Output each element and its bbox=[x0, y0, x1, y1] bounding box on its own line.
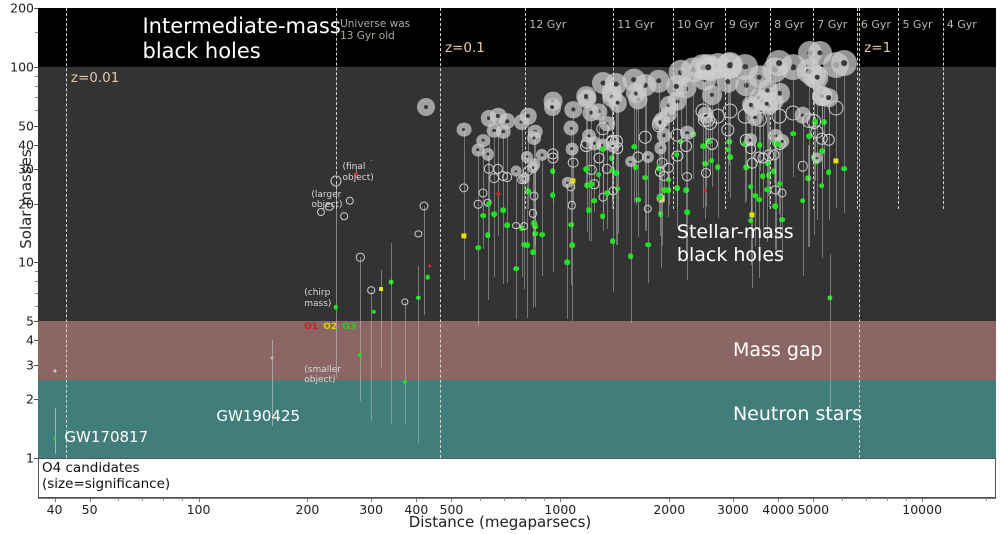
event-dot bbox=[565, 260, 571, 266]
mass-uncertainty-bar bbox=[589, 136, 590, 241]
mass-uncertainty-bar bbox=[533, 167, 534, 308]
event-dot bbox=[600, 146, 606, 152]
mass-uncertainty-bar bbox=[631, 162, 632, 323]
final-object-ring bbox=[544, 98, 562, 116]
redshift-label: z=1 bbox=[864, 40, 891, 56]
reference-line bbox=[943, 8, 944, 209]
event-dot bbox=[657, 194, 663, 200]
final-object-ring bbox=[564, 121, 579, 136]
mass-uncertainty-bar bbox=[836, 65, 837, 207]
reference-line bbox=[770, 8, 771, 209]
mass-uncertainty-bar bbox=[542, 155, 543, 276]
event-dot bbox=[684, 209, 690, 215]
lookback-time-label: 7 Gyr bbox=[817, 18, 847, 31]
event-dot bbox=[819, 183, 825, 189]
callout-final-object: (final object) bbox=[343, 162, 374, 183]
event-dot bbox=[748, 184, 754, 190]
final-object-ring bbox=[808, 41, 832, 65]
component-object-ring bbox=[680, 140, 692, 152]
component-object-ring bbox=[745, 143, 757, 155]
event-dot bbox=[752, 193, 758, 199]
event-dot bbox=[645, 242, 651, 248]
mass-uncertainty-bar bbox=[424, 206, 425, 315]
final-object-ring bbox=[642, 151, 654, 163]
x-minor-tick bbox=[887, 498, 888, 501]
callout-chirp-mass: (chirp mass) bbox=[304, 288, 331, 309]
lookback-time-label: 8 Gyr bbox=[774, 18, 804, 31]
event-dot bbox=[661, 188, 667, 194]
event-dot bbox=[764, 187, 770, 193]
lookback-time-label: 5 Gyr bbox=[902, 18, 932, 31]
x-minor-tick bbox=[906, 498, 907, 501]
lookback-time-label: 6 Gyr bbox=[861, 18, 891, 31]
mass-uncertainty-bar bbox=[808, 145, 809, 247]
reference-line bbox=[66, 8, 67, 458]
reference-line bbox=[898, 8, 899, 209]
mass-uncertainty-bar bbox=[498, 116, 499, 236]
mass-uncertainty-bar bbox=[815, 122, 816, 181]
component-object-ring bbox=[479, 189, 488, 198]
o4-label-line2: (size=significance) bbox=[42, 476, 170, 492]
mass-uncertainty-bar bbox=[507, 121, 508, 283]
final-object-ring bbox=[490, 108, 507, 125]
mass-uncertainty-bar bbox=[793, 67, 794, 177]
o4-label-line1: O4 candidates bbox=[42, 460, 140, 476]
mass-uncertainty-bar bbox=[391, 243, 392, 423]
lookback-time-label: 11 Gyr bbox=[617, 18, 654, 31]
mass-uncertainty-bar bbox=[763, 101, 764, 235]
label-mass-gap: Mass gap bbox=[733, 339, 823, 361]
x-minor-tick bbox=[866, 498, 867, 501]
y-tick-label: 3 bbox=[26, 357, 34, 372]
legend-o1: O1 bbox=[304, 322, 318, 332]
event-dot bbox=[631, 144, 637, 150]
x-minor-tick bbox=[480, 498, 481, 501]
event-dot bbox=[53, 370, 56, 373]
event-square bbox=[461, 233, 466, 238]
component-object-ring bbox=[341, 213, 349, 221]
label-neutron-stars: Neutron stars bbox=[733, 403, 862, 425]
event-dot bbox=[480, 213, 486, 219]
reference-line bbox=[859, 8, 860, 458]
x-tick-mark bbox=[778, 498, 779, 502]
component-object-ring bbox=[774, 138, 786, 150]
mass-uncertainty-bar bbox=[669, 105, 670, 204]
component-object-ring bbox=[512, 222, 520, 230]
mass-uncertainty-bar bbox=[677, 86, 678, 206]
mass-uncertainty-bar bbox=[553, 107, 554, 273]
mass-uncertainty-bar bbox=[618, 103, 619, 233]
final-object-ring bbox=[487, 123, 502, 138]
component-object-ring bbox=[772, 109, 787, 124]
x-tick-mark bbox=[416, 498, 417, 502]
event-dot bbox=[841, 166, 847, 172]
x-minor-tick bbox=[525, 498, 526, 501]
x-tick-mark bbox=[922, 498, 923, 502]
component-object-ring bbox=[580, 140, 592, 152]
x-tick-mark bbox=[55, 498, 56, 502]
final-object-ring bbox=[456, 122, 471, 137]
x-minor-tick bbox=[163, 498, 164, 501]
main-plot-area: z=0.01z=0.1z=1Universe was 13 Gyr old12 … bbox=[38, 8, 996, 458]
mass-uncertainty-bar bbox=[572, 149, 573, 322]
redshift-label: z=0.01 bbox=[71, 70, 119, 86]
event-dot bbox=[588, 182, 594, 188]
callout-larger-object: (larger object) bbox=[311, 190, 342, 211]
y-tick-label: 2 bbox=[26, 392, 34, 407]
reference-line bbox=[613, 8, 614, 209]
mass-uncertainty-bar bbox=[751, 105, 752, 221]
o4-panel-label: O4 candidates(size=significance) bbox=[42, 460, 170, 492]
mass-uncertainty-bar bbox=[591, 113, 592, 241]
reference-line bbox=[813, 8, 814, 209]
x-tick-mark bbox=[669, 498, 670, 502]
x-minor-tick bbox=[544, 498, 545, 501]
mass-uncertainty-bar bbox=[648, 157, 649, 283]
mass-uncertainty-bar bbox=[516, 171, 517, 319]
mass-uncertainty-bar bbox=[522, 122, 523, 277]
x-minor-tick bbox=[118, 498, 119, 501]
final-object-ring bbox=[831, 50, 857, 76]
y-tick-label: 5 bbox=[26, 314, 34, 329]
label-intermediate-mass-black-holes: Intermediate-mass black holes bbox=[142, 14, 340, 64]
final-object-ring bbox=[566, 142, 579, 155]
band-mass-gap bbox=[38, 321, 996, 380]
x-minor-tick bbox=[142, 498, 143, 501]
x-tick-mark bbox=[199, 498, 200, 502]
event-dot bbox=[610, 238, 616, 244]
redshift-label: z=0.1 bbox=[445, 40, 485, 56]
event-dot bbox=[760, 174, 766, 180]
o4-candidates-panel: O4 candidates(size=significance) bbox=[38, 458, 996, 498]
event-dot bbox=[475, 245, 481, 251]
event-dot bbox=[583, 166, 589, 172]
x-tick-mark bbox=[451, 498, 452, 502]
y-tick-label: 100 bbox=[10, 59, 34, 74]
final-object-ring bbox=[608, 94, 627, 113]
event-dot bbox=[271, 356, 274, 359]
mass-uncertainty-bar bbox=[824, 88, 825, 169]
event-dot bbox=[777, 181, 783, 187]
mass-uncertainty-bar bbox=[844, 63, 845, 213]
callout-smaller-object: (smaller object) bbox=[304, 365, 341, 386]
event-dot bbox=[674, 152, 680, 158]
mass-uncertainty-bar bbox=[527, 157, 528, 318]
mass-uncertainty-bar bbox=[830, 254, 831, 408]
event-dot bbox=[500, 208, 506, 214]
mass-uncertainty-bar bbox=[829, 98, 830, 220]
final-object-ring bbox=[417, 98, 435, 116]
component-object-ring bbox=[568, 157, 579, 168]
x-tick-mark bbox=[560, 498, 561, 502]
x-tick-mark bbox=[307, 498, 308, 502]
gravitational-wave-masses-chart: 123451020304050100200 Solar masses z=0.0… bbox=[0, 0, 1000, 534]
event-square bbox=[834, 158, 839, 163]
x-tick-mark bbox=[813, 498, 814, 502]
event-dot bbox=[403, 380, 407, 384]
x-tick-mark bbox=[733, 498, 734, 502]
y-tick-label: 200 bbox=[10, 1, 34, 16]
x-minor-tick bbox=[182, 498, 183, 501]
event-dot bbox=[628, 254, 634, 260]
event-dot bbox=[826, 170, 832, 176]
mass-uncertainty-bar bbox=[817, 77, 818, 220]
reference-line bbox=[725, 8, 726, 209]
mass-uncertainty-bar bbox=[464, 130, 465, 281]
x-tick-mark bbox=[90, 498, 91, 502]
event-dot bbox=[524, 242, 530, 248]
event-dot bbox=[790, 131, 796, 137]
universe-age-label: Universe was 13 Gyr old bbox=[340, 18, 410, 42]
event-dot bbox=[715, 165, 721, 171]
event-dot bbox=[504, 222, 510, 228]
event-dot bbox=[530, 249, 536, 255]
reference-line bbox=[440, 8, 441, 458]
event-dot bbox=[596, 172, 602, 178]
legend-o2: O2 bbox=[323, 322, 337, 332]
event-dot bbox=[491, 212, 497, 218]
mass-uncertainty-bar bbox=[803, 115, 804, 276]
event-dot bbox=[709, 158, 715, 164]
mass-uncertainty-bar bbox=[478, 150, 479, 326]
label-gw190425: GW190425 bbox=[216, 407, 300, 425]
lookback-time-label: 12 Gyr bbox=[529, 18, 566, 31]
mass-uncertainty-bar bbox=[360, 257, 361, 401]
legend-o3: O3 bbox=[342, 322, 356, 332]
component-object-ring bbox=[474, 200, 483, 209]
final-object-ring bbox=[472, 144, 485, 157]
mass-uncertainty-bar bbox=[381, 270, 382, 368]
event-dot bbox=[496, 192, 500, 196]
event-dot bbox=[513, 266, 519, 272]
y-tick-label: 1 bbox=[26, 451, 34, 466]
y-tick-label: 4 bbox=[26, 333, 34, 348]
x-minor-tick bbox=[842, 498, 843, 501]
component-object-ring bbox=[659, 171, 669, 181]
component-object-ring bbox=[568, 201, 577, 210]
event-dot bbox=[800, 198, 806, 204]
label-stellar-mass-black-holes: Stellar-mass black holes bbox=[677, 221, 794, 266]
x-axis-label: Distance (megaparsecs) bbox=[0, 513, 1000, 531]
mass-uncertainty-bar bbox=[405, 302, 406, 424]
event-dot bbox=[358, 353, 362, 357]
x-minor-tick bbox=[986, 498, 987, 501]
component-object-ring bbox=[547, 153, 558, 164]
mass-uncertainty-bar bbox=[634, 80, 635, 203]
final-object-ring bbox=[520, 108, 537, 125]
observing-run-legend: O1 O2 O3 bbox=[304, 314, 356, 333]
lookback-time-label: 10 Gyr bbox=[677, 18, 714, 31]
event-dot bbox=[428, 264, 432, 268]
event-dot bbox=[550, 192, 556, 198]
component-object-ring bbox=[530, 192, 539, 201]
final-object-ring bbox=[623, 68, 646, 91]
event-dot bbox=[539, 232, 545, 238]
mass-uncertainty-bar bbox=[418, 266, 419, 443]
x-minor-tick bbox=[504, 498, 505, 501]
final-object-ring bbox=[527, 131, 541, 145]
x-tick-mark bbox=[371, 498, 372, 502]
event-dot bbox=[486, 201, 492, 207]
lookback-time-label: 4 Gyr bbox=[947, 18, 977, 31]
mass-uncertainty-bar bbox=[728, 81, 729, 192]
event-dot bbox=[569, 243, 575, 249]
reference-line bbox=[857, 8, 858, 209]
label-gw170817: GW170817 bbox=[64, 428, 148, 446]
reference-line bbox=[525, 8, 526, 209]
final-object-ring bbox=[511, 166, 522, 177]
lookback-time-label: 9 Gyr bbox=[729, 18, 759, 31]
event-dot bbox=[600, 213, 606, 219]
y-axis-label: Solar masses bbox=[17, 129, 35, 269]
component-object-ring bbox=[682, 172, 692, 182]
reference-line bbox=[673, 8, 674, 209]
mass-uncertainty-bar bbox=[494, 131, 495, 277]
mass-uncertainty-bar bbox=[693, 70, 694, 180]
mass-uncertainty-bar bbox=[55, 408, 56, 454]
component-object-ring bbox=[639, 131, 652, 144]
event-dot bbox=[773, 204, 779, 210]
mass-uncertainty-bar bbox=[780, 93, 781, 238]
